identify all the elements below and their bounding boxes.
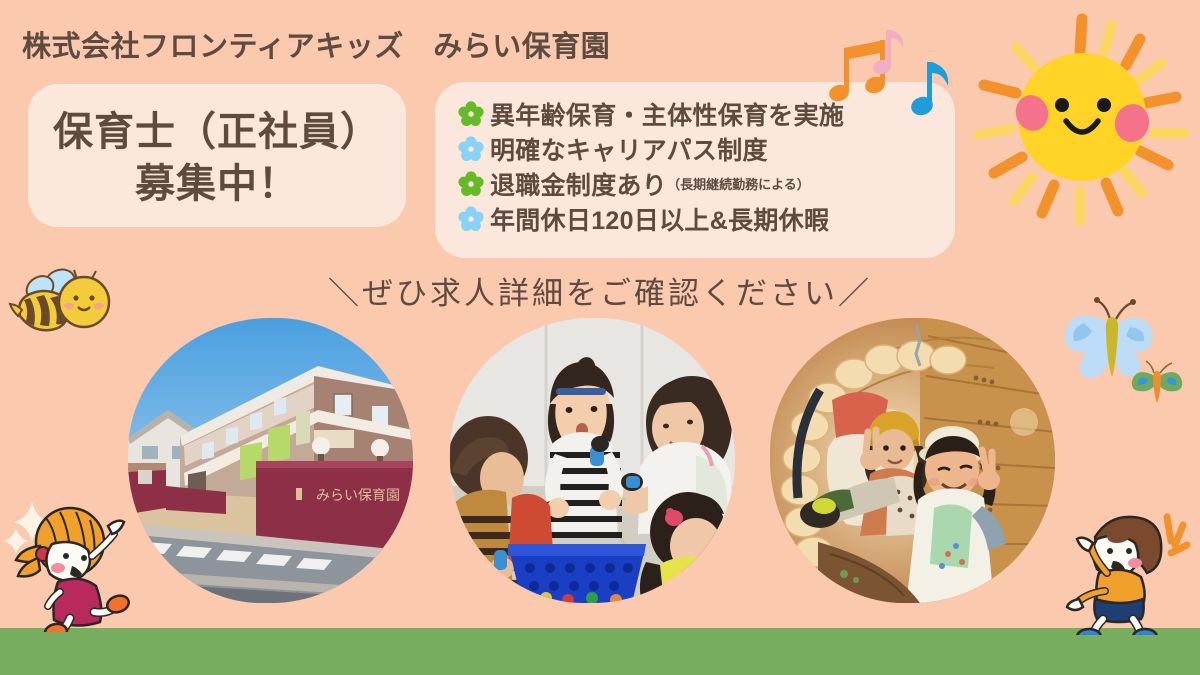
flower-icon xyxy=(458,101,484,127)
nursery-building-photo: みらい保育園 xyxy=(128,318,413,603)
headline-line-1: 保育士（正社員） xyxy=(53,110,381,154)
playground-tunnel-photo xyxy=(770,318,1055,603)
list-item-note: （長期継続勤務による） xyxy=(667,174,810,193)
list-item: 年間休日120日以上&長期休暇 xyxy=(458,201,958,236)
list-item: 明確なキャリアパス制度 xyxy=(458,131,958,166)
bee-icon xyxy=(8,268,120,349)
page-title: 保育士（正社員） 募集中！ xyxy=(28,106,406,210)
sun-icon xyxy=(970,5,1194,234)
list-item: 退職金制度あり （長期継続勤務による） xyxy=(458,166,958,201)
flower-icon xyxy=(458,171,484,197)
poster-canvas: 株式会社フロンティアキッズ みらい保育園 保育士（正社員） 募集中！ 異年齢保育… xyxy=(0,0,1200,675)
call-to-action-text: ＼ぜひ求人詳細をご確認ください／ xyxy=(0,268,1200,313)
music-notes-icon xyxy=(828,22,958,133)
boy-character-icon xyxy=(1055,495,1195,640)
girl-character-icon xyxy=(8,500,138,637)
list-item-label: 退職金制度あり xyxy=(490,166,667,202)
list-item-label: 明確なキャリアパス制度 xyxy=(490,131,768,167)
children-playing-photo xyxy=(450,318,735,603)
flower-icon xyxy=(458,206,484,232)
list-item-label: 異年齢保育・主体性保育を実施 xyxy=(490,96,844,132)
headline-panel: 保育士（正社員） 募集中！ xyxy=(28,84,406,227)
list-item-label: 年間休日120日以上&長期休暇 xyxy=(490,201,829,237)
bottom-color-bar xyxy=(0,628,1200,675)
flower-icon xyxy=(458,136,484,162)
headline-line-2: 募集中！ xyxy=(28,158,406,210)
company-name: 株式会社フロンティアキッズ みらい保育園 xyxy=(22,23,610,65)
svg-text:みらい保育園: みらい保育園 xyxy=(316,488,400,504)
butterfly-icon xyxy=(1058,295,1190,410)
